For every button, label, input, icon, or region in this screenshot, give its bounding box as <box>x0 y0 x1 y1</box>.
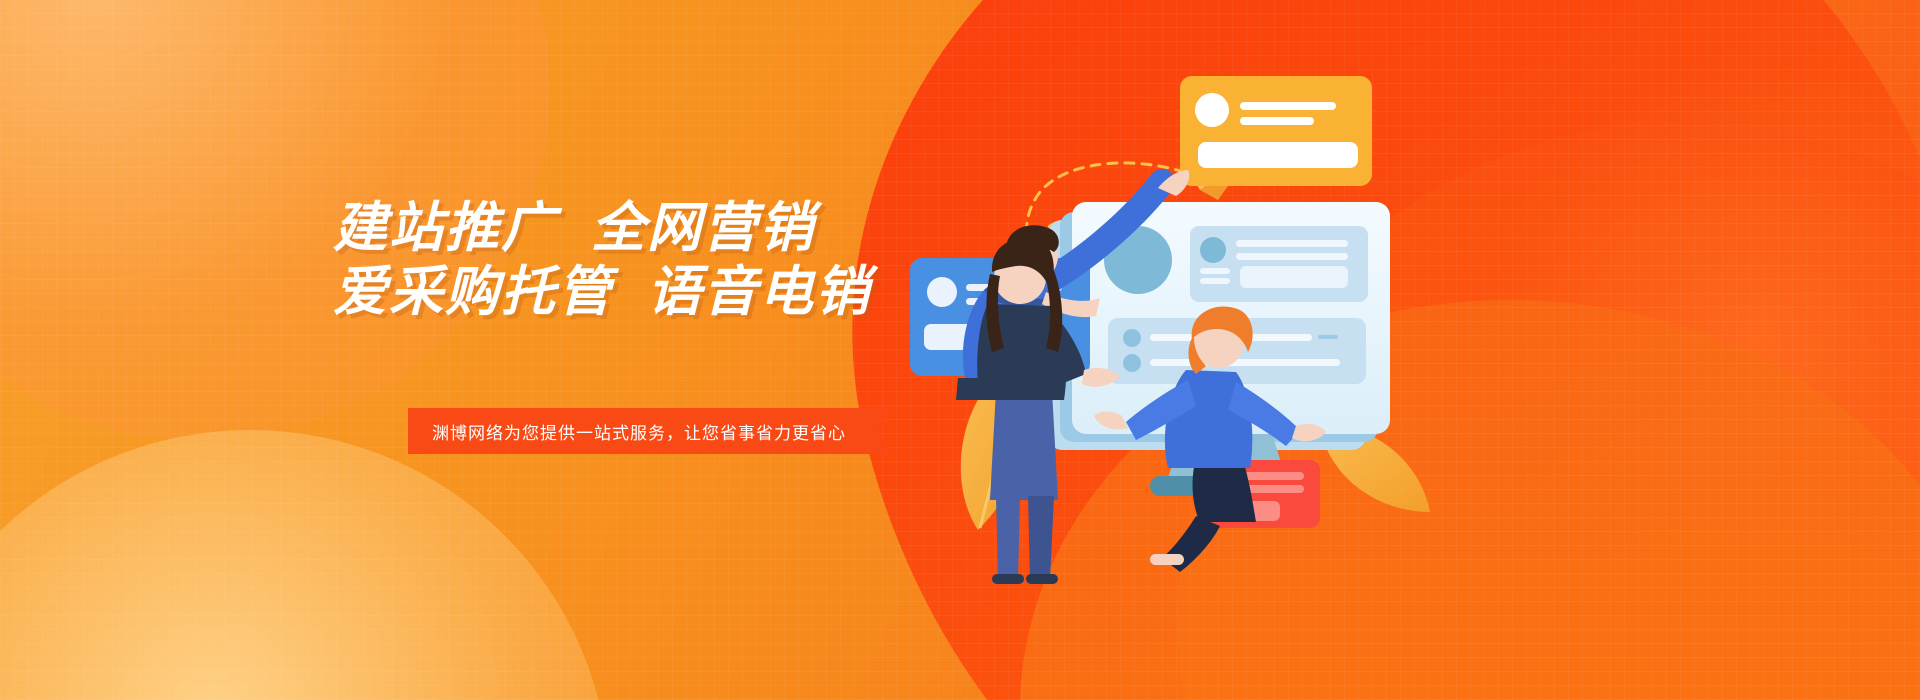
copy-block: 建站推广 全网营销 爱采购托管 语音电销 渊博网络为您提供一站式服务，让您省事省… <box>333 196 1093 324</box>
tagline-text: 渊博网络为您提供一站式服务，让您省事省力更省心 <box>432 419 846 444</box>
tagline-ribbon: 渊博网络为您提供一站式服务，让您省事省力更省心 <box>408 408 894 454</box>
headline-line-1: 建站推广 全网营销 <box>333 196 1093 260</box>
yellow-profile-card <box>1180 76 1372 186</box>
promo-banner: 建站推广 全网营销 爱采购托管 语音电销 渊博网络为您提供一站式服务，让您省事省… <box>0 0 1920 700</box>
headline-line-2: 爱采购托管 语音电销 <box>333 260 1093 324</box>
illustration <box>900 60 1520 620</box>
